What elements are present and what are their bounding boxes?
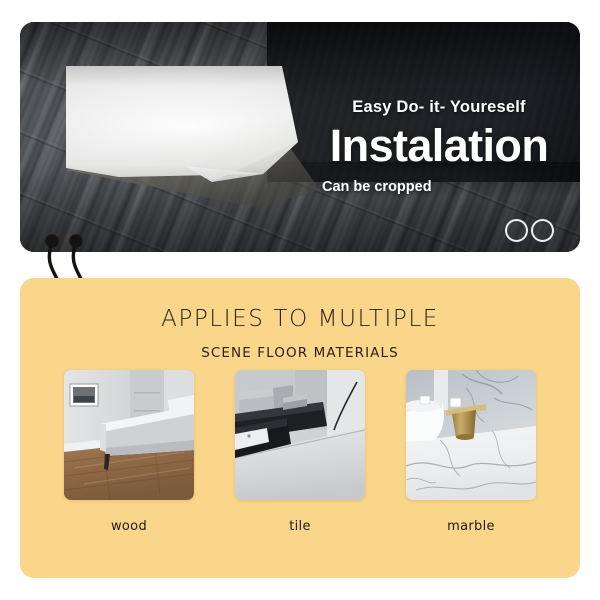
section-subtitle: SCENE FLOOR MATERIALS — [20, 345, 580, 361]
material-thumbnail-row: wood — [20, 370, 580, 534]
carousel-dot-2[interactable] — [531, 219, 554, 242]
hero-kicker: Easy Do- it- Youreself — [303, 98, 575, 117]
material-label-marble: marble — [447, 519, 495, 534]
page-root: Easy Do- it- Youreself Instalation Can b… — [0, 0, 600, 600]
material-card-tile[interactable]: tile — [228, 370, 373, 534]
material-label-tile: tile — [289, 519, 311, 534]
material-label-wood: wood — [111, 519, 147, 534]
section-title: APPLIES TO MULTIPLE — [20, 306, 580, 332]
hero-text-block: Easy Do- it- Youreself Instalation Can b… — [303, 98, 575, 195]
carousel-dots[interactable] — [505, 219, 554, 242]
hero-title: Instalation — [303, 123, 575, 168]
hero-banner[interactable]: Easy Do- it- Youreself Instalation Can b… — [20, 22, 580, 252]
clip-top-dot-1 — [45, 234, 58, 247]
marble-thumbnail[interactable] — [406, 370, 536, 500]
wood-thumbnail[interactable] — [64, 370, 194, 500]
material-card-marble[interactable]: marble — [399, 370, 544, 534]
material-card-wood[interactable]: wood — [57, 370, 202, 534]
hero-subtitle: Can be cropped — [322, 179, 575, 195]
clip-top-dot-2 — [69, 234, 82, 247]
carousel-dot-1[interactable] — [505, 219, 528, 242]
tile-thumbnail[interactable] — [235, 370, 365, 500]
materials-panel: APPLIES TO MULTIPLE SCENE FLOOR MATERIAL… — [20, 278, 580, 578]
